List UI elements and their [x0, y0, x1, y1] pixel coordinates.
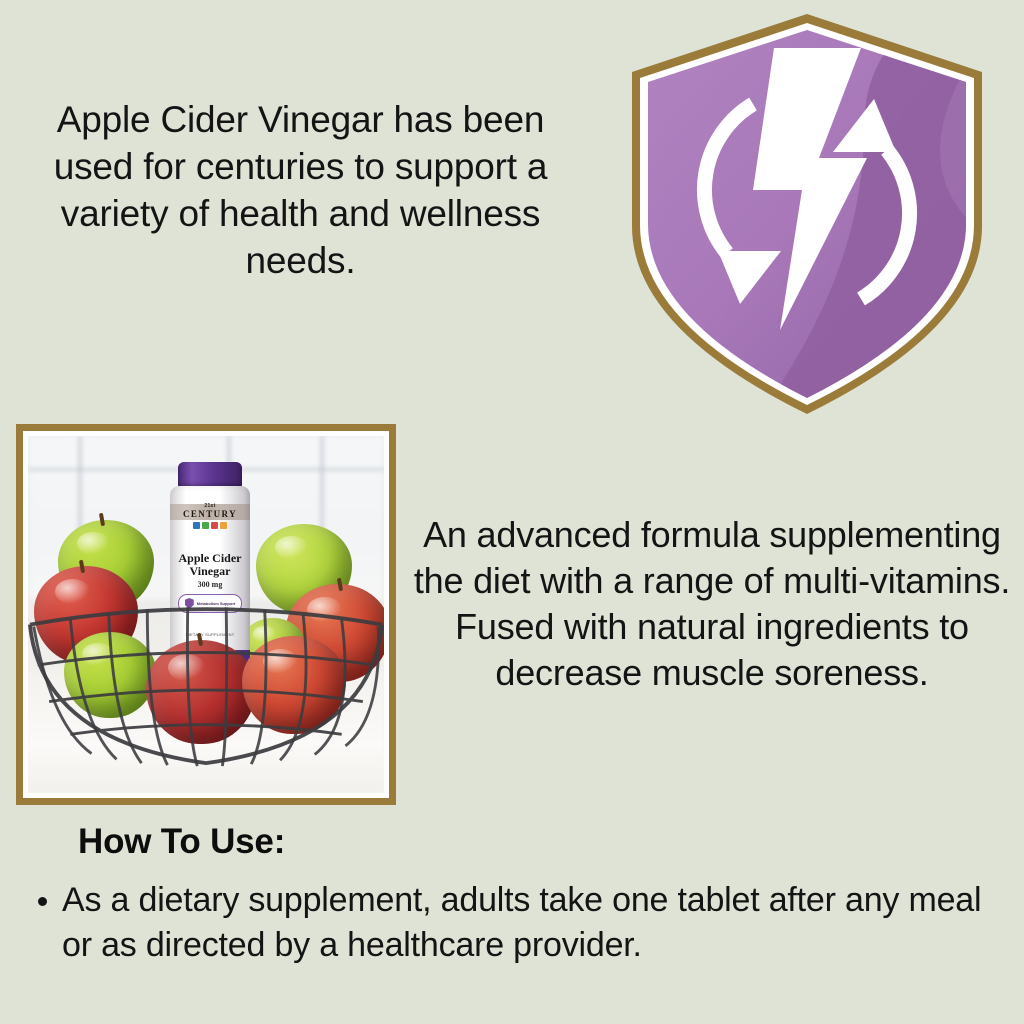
product-photo-frame: 21st CENTURY Apple Cider Vinegar 300 mg … [16, 424, 396, 805]
apple-red [242, 636, 346, 734]
bullet-icon [38, 897, 47, 906]
bottle-brand-main: CENTURY [170, 509, 250, 519]
list-item-text: As a dietary supplement, adults take one… [62, 878, 998, 968]
bottle-badge-text: Metabolism Support [197, 601, 235, 606]
bottle-product-name: Apple Cider Vinegar [170, 552, 250, 578]
apple-red [146, 640, 256, 744]
product-photo: 21st CENTURY Apple Cider Vinegar 300 mg … [28, 436, 384, 793]
bottle-fine-print: DIETARY SUPPLEMENT [170, 632, 250, 637]
bottle-dose: 300 mg [170, 580, 250, 589]
energy-shield-badge [614, 8, 1000, 420]
headline-text: Apple Cider Vinegar has been used for ce… [28, 96, 573, 284]
product-bottle: 21st CENTURY Apple Cider Vinegar 300 mg … [167, 462, 253, 667]
bottle-support-badge: Metabolism Support [178, 594, 242, 613]
body-copy-text: An advanced formula supplementing the di… [404, 512, 1020, 696]
bottle-cap [178, 462, 242, 488]
apple-green [64, 632, 156, 718]
list-item: As a dietary supplement, adults take one… [38, 878, 998, 968]
how-to-use-list: As a dietary supplement, adults take one… [38, 878, 998, 968]
mini-shield-icon [185, 598, 194, 609]
bottle-brand-squares [193, 522, 227, 529]
how-to-use-heading: How To Use: [78, 822, 285, 862]
